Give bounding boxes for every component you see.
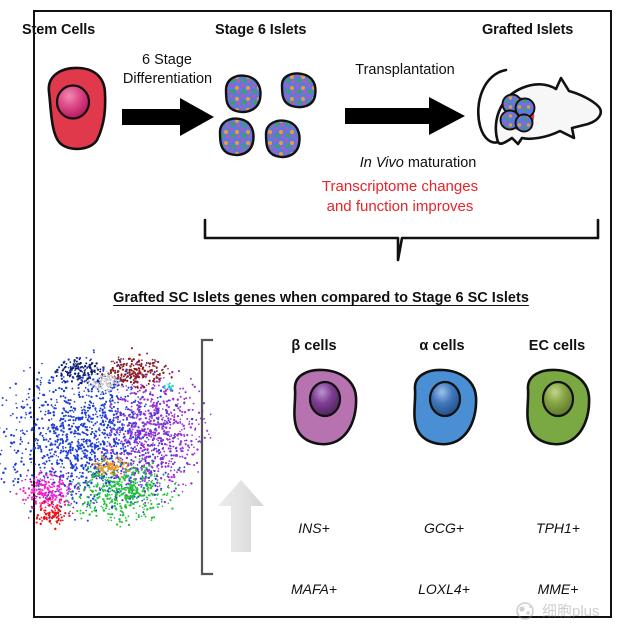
gene-item: MAFA+ [258, 579, 370, 599]
column-label-alpha-cells: α cells [400, 338, 484, 355]
gene-list-alpha-cells: GCG+ LOXL4+ SCG5+ PARVB+ CHGB+ [388, 478, 500, 638]
bottom-panel-title: Grafted SC Islets genes when compared to… [48, 290, 594, 307]
beta-cell-illustration [285, 365, 365, 449]
columns-bracket [198, 338, 216, 576]
graphical-abstract-figure: Stem Cells Stage 6 Islets Grafted Islets… [0, 0, 634, 638]
arrow1-label-line1: 6 Stage [112, 52, 222, 69]
cell-logo-icon [512, 601, 538, 621]
alpha-cell-illustration [405, 365, 485, 449]
gene-list-beta-cells: INS+ MAFA+ G6PC2+ FAM159B+ IAPP+ [258, 478, 370, 638]
watermark-text: 细胞plus [542, 600, 600, 621]
gene-item: GCG+ [388, 518, 500, 538]
arrow1-label-line2: Differentiation [105, 71, 230, 88]
gene-item: LOXL4+ [388, 579, 500, 599]
column-label-ec-cells: EC cells [512, 338, 602, 355]
gene-item: TPH1+ [502, 518, 614, 538]
stage-label-grafted-islets: Grafted Islets [482, 22, 573, 39]
stage6-islet-clusters [218, 72, 324, 168]
gene-item: INS+ [258, 518, 370, 538]
ec-cell-illustration [518, 365, 598, 449]
arrow2-label-invivo: In Vivo [360, 155, 404, 171]
arrow2-label-maturation: maturation [404, 155, 477, 171]
mouse-illustration [468, 58, 608, 166]
summary-brace [200, 218, 608, 262]
tsne-scatter-plot [0, 330, 200, 560]
watermark: 细胞plus [512, 600, 600, 621]
gene-item: MME+ [502, 579, 614, 599]
stage-label-stem-cells: Stem Cells [22, 22, 95, 39]
column-label-beta-cells: β cells [272, 338, 356, 355]
transplantation-arrow-icon [345, 97, 465, 135]
stage-label-stage6-islets: Stage 6 Islets [215, 22, 306, 39]
callout-line1: Transcriptome changes [255, 177, 545, 197]
differentiation-arrow-icon [122, 98, 214, 136]
arrow2-label-transplantation: Transplantation [330, 62, 480, 79]
callout-line2: and function improves [255, 197, 545, 217]
